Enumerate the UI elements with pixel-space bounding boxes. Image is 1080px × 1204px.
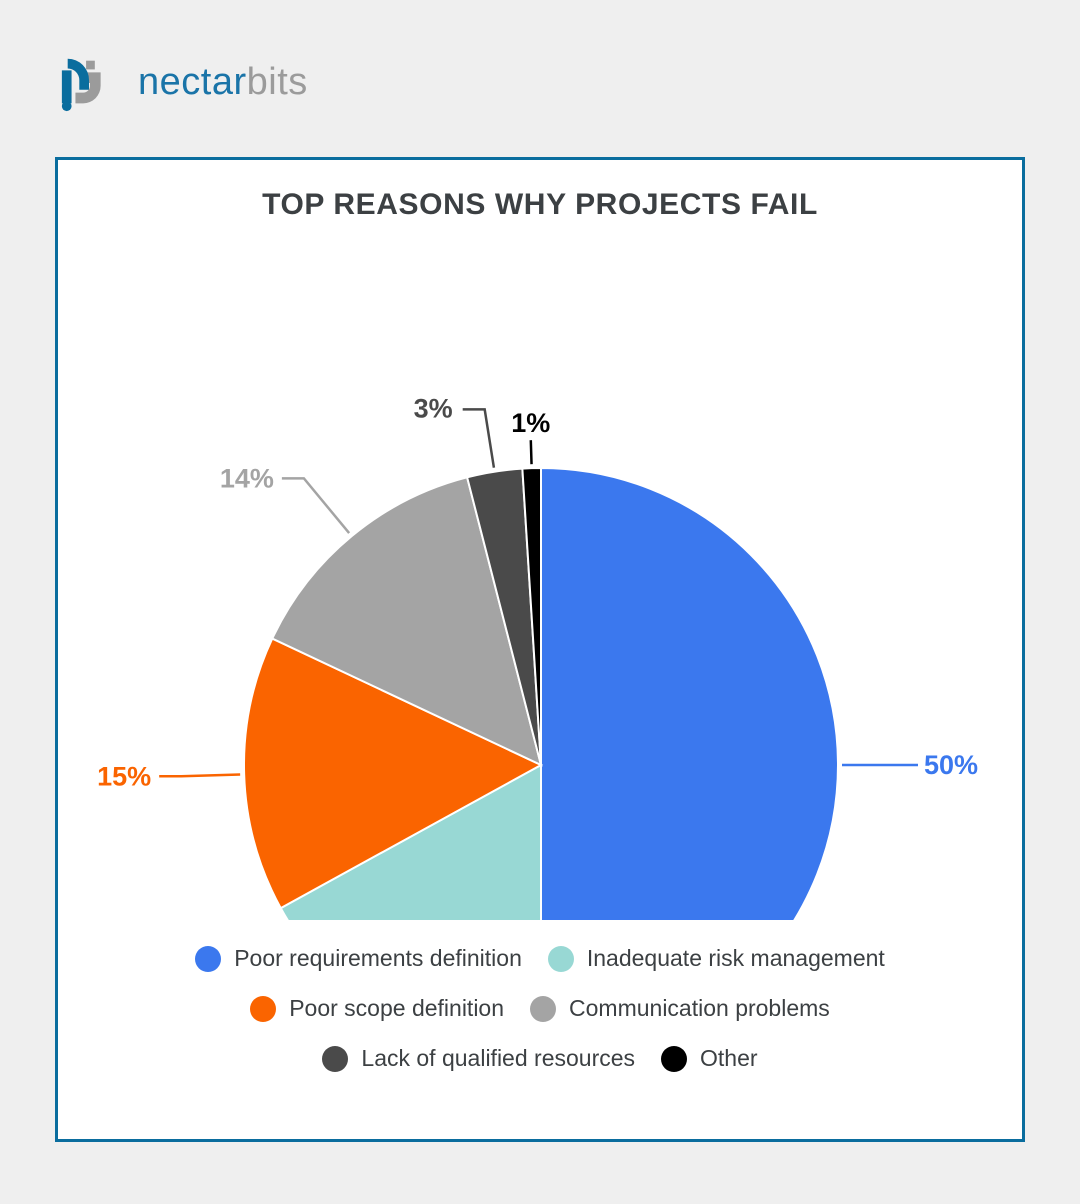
nectarbits-logo-icon <box>58 51 120 113</box>
legend-item[interactable]: Poor requirements definition <box>195 945 522 972</box>
legend-item-label: Inadequate risk management <box>587 945 885 972</box>
legend-row: Lack of qualified resourcesOther <box>322 1045 757 1072</box>
pie-leader-line <box>463 409 494 467</box>
pie-chart: 50%17%15%14%3%1% <box>58 220 1028 920</box>
pie-leader-line <box>531 440 532 464</box>
pie-leader-line <box>159 774 240 776</box>
legend-swatch-icon <box>530 996 556 1022</box>
pie-leader-line <box>282 478 349 533</box>
brand-wordmark-part1: nectar <box>138 61 247 103</box>
brand-wordmark: nectarbits <box>138 63 308 101</box>
chart-card: TOP REASONS WHY PROJECTS FAIL 50%17%15%1… <box>55 157 1025 1142</box>
legend-item-label: Lack of qualified resources <box>361 1045 635 1072</box>
legend-swatch-icon <box>548 946 574 972</box>
chart-legend: Poor requirements definitionInadequate r… <box>58 945 1022 1072</box>
legend-swatch-icon <box>250 996 276 1022</box>
legend-swatch-icon <box>661 1046 687 1072</box>
legend-item-label: Other <box>700 1045 758 1072</box>
legend-item[interactable]: Inadequate risk management <box>548 945 885 972</box>
legend-item-label: Communication problems <box>569 995 830 1022</box>
pie-slice[interactable] <box>541 468 838 920</box>
pie-slices <box>244 468 838 920</box>
pie-slice-label: 1% <box>511 408 550 438</box>
legend-item[interactable]: Poor scope definition <box>250 995 504 1022</box>
legend-swatch-icon <box>322 1046 348 1072</box>
legend-item[interactable]: Communication problems <box>530 995 830 1022</box>
legend-item-label: Poor scope definition <box>289 995 504 1022</box>
pie-chart-svg: 50%17%15%14%3%1% <box>58 220 1028 920</box>
brand-header: nectarbits <box>58 50 308 114</box>
pie-slice-label: 14% <box>220 463 274 493</box>
pie-slice-label: 15% <box>97 761 151 791</box>
pie-slice-label: 3% <box>414 393 453 423</box>
legend-item-label: Poor requirements definition <box>234 945 522 972</box>
pie-slice-label: 50% <box>924 750 978 780</box>
legend-item[interactable]: Other <box>661 1045 758 1072</box>
legend-item[interactable]: Lack of qualified resources <box>322 1045 635 1072</box>
legend-swatch-icon <box>195 946 221 972</box>
brand-wordmark-part2: bits <box>247 61 308 103</box>
chart-title: TOP REASONS WHY PROJECTS FAIL <box>58 188 1022 222</box>
legend-row: Poor scope definitionCommunication probl… <box>250 995 830 1022</box>
legend-row: Poor requirements definitionInadequate r… <box>195 945 885 972</box>
